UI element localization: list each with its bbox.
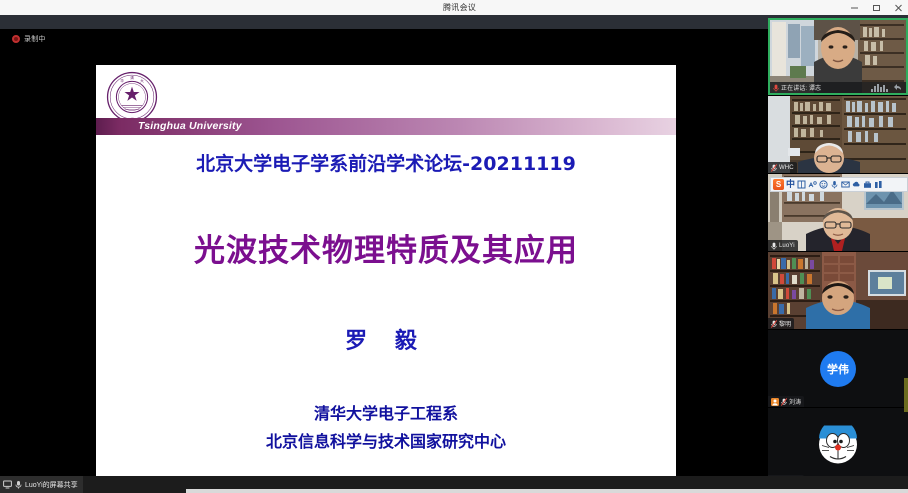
sogou-ime-toolbar[interactable]: S 中	[770, 177, 908, 192]
app-root: 腾讯会议 录制中	[0, 0, 908, 493]
doraemon-avatar-icon	[819, 426, 857, 464]
tile-speaker[interactable]: 正在讲话: 谭志	[768, 18, 908, 95]
emoji-icon[interactable]	[819, 180, 828, 189]
tile-name-label: LuoYi	[779, 243, 795, 249]
svg-text:华: 华	[120, 78, 124, 83]
recording-label: 录制中	[24, 34, 46, 44]
slide-forum-line: 北京大学电子学系前沿学术论坛-20211119	[96, 149, 676, 176]
tile-namebar: 正在讲话: 谭志	[770, 82, 906, 93]
slide-affiliation-2: 北京信息科学与技术国家研究中心	[96, 428, 676, 452]
tile-name-label: WHC	[779, 165, 794, 171]
reply-arrow-icon[interactable]	[894, 84, 902, 91]
monitor-icon	[3, 480, 12, 489]
window-title: 腾讯会议	[443, 0, 476, 15]
tile-name-label: 黎明	[779, 319, 791, 328]
tile-namebar: LuoYi	[768, 240, 798, 251]
mic-active-icon	[773, 84, 779, 92]
mic-muted-icon	[771, 164, 777, 172]
slide-affiliation-1: 清华大学电子工程系	[96, 400, 676, 424]
slide-banner: Tsinghua University	[96, 118, 676, 135]
banner-text: Tsinghua University	[138, 118, 242, 135]
shared-screen-stage: 录制中 清华 大学	[0, 29, 768, 476]
tile-namebar: WHC	[768, 162, 797, 173]
mic-muted-icon	[781, 398, 787, 406]
mic-muted-icon	[771, 320, 777, 328]
window-titlebar: 腾讯会议	[0, 0, 908, 15]
mic-icon	[15, 480, 22, 489]
tile-name-label: 正在讲话: 谭志	[781, 83, 821, 92]
participant-rail[interactable]: 正在讲话: 谭志	[768, 18, 908, 476]
toolbox-icon[interactable]	[863, 180, 872, 189]
tile-namebar: 黎明	[768, 318, 794, 329]
speaking-waveform-icon	[871, 84, 888, 92]
avatar	[819, 426, 857, 469]
svg-text:大: 大	[140, 78, 144, 83]
rail-scrollbar[interactable]	[904, 378, 908, 412]
close-button[interactable]	[893, 2, 904, 13]
settings-icon[interactable]	[874, 180, 883, 189]
window-controls	[849, 0, 904, 15]
minimize-button[interactable]	[849, 2, 860, 13]
slide-author: 罗 毅	[96, 323, 676, 355]
slide-main-title: 光波技术物理特质及其应用	[96, 225, 676, 270]
ime-mode-icon[interactable]: 中	[786, 180, 795, 189]
taskbar-item-label: LuoYi的屏幕共享	[25, 480, 78, 490]
svg-text:清: 清	[130, 75, 134, 80]
mic-active-icon	[771, 242, 777, 250]
voice-icon[interactable]	[808, 180, 817, 189]
user-avatar-icon	[771, 398, 779, 406]
avatar: 学伟	[820, 351, 856, 387]
avatar-initials: 学伟	[820, 351, 856, 387]
taskbar-light-strip	[186, 489, 908, 493]
tile-whc[interactable]: WHC	[768, 96, 908, 173]
mic-icon[interactable]	[830, 180, 839, 189]
tile-name-label: 刘涛	[789, 397, 801, 406]
taskbar-item-screenshare[interactable]: LuoYi的屏幕共享	[0, 476, 83, 493]
mail-icon[interactable]	[841, 180, 850, 189]
sogou-logo-icon[interactable]: S	[773, 179, 784, 190]
restore-button[interactable]	[871, 2, 882, 13]
recording-badge: 录制中	[12, 34, 46, 44]
tile-xuewei[interactable]: 学伟 刘涛	[768, 330, 908, 407]
cloud-icon[interactable]	[852, 180, 861, 189]
record-icon	[12, 35, 20, 43]
presentation-slide: 清华 大学 Tsinghua University 北京大学电子学系前沿学术论坛…	[96, 65, 676, 493]
tile-namebar: 刘涛	[768, 396, 804, 407]
half-full-width-icon[interactable]	[797, 180, 806, 189]
tile-doraemon[interactable]: 苏斌	[768, 408, 908, 486]
tsinghua-seal-icon: 清华 大学	[106, 71, 158, 123]
tile-bookshelf[interactable]: 黎明	[768, 252, 908, 329]
